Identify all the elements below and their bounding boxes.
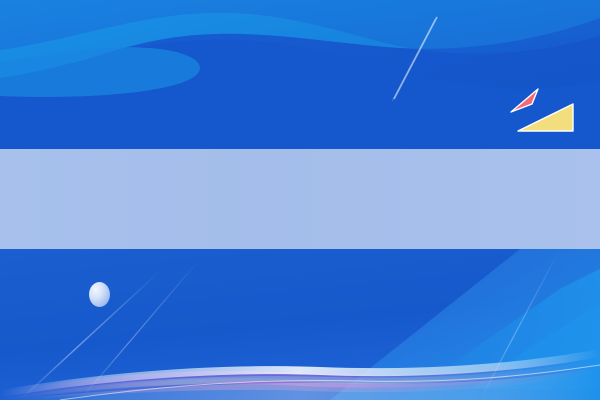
banner-bottom-section: [0, 249, 600, 400]
banner-image: 2024襄阳职业技术学院各专业录取分数线: [0, 0, 600, 400]
title-band: 2024襄阳职业技术学院各专业录取分数线: [0, 149, 600, 249]
top-wave-graphics: [0, 0, 600, 149]
bubble-circle-icon: [89, 282, 110, 307]
bottom-aurora-graphics: [0, 249, 600, 400]
banner-top-section: [0, 0, 600, 149]
